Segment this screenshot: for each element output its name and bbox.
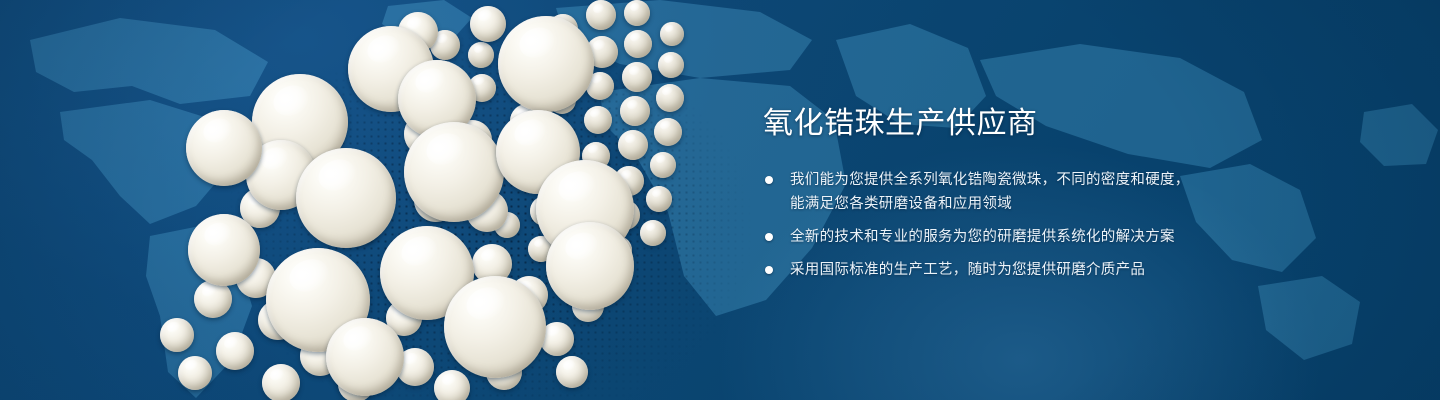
feature-bullet-list: 我们能为您提供全系列氧化锆陶瓷微珠，不同的密度和硬度， 能满足您各类研磨设备和应… xyxy=(763,168,1403,282)
banner-text-block: 氧化锆珠生产供应商 我们能为您提供全系列氧化锆陶瓷微珠，不同的密度和硬度， 能满… xyxy=(763,104,1403,282)
page-title: 氧化锆珠生产供应商 xyxy=(763,104,1403,144)
bullet-dot-icon xyxy=(765,266,773,274)
bullet-text-line-2: 能满足您各类研磨设备和应用领域 xyxy=(790,192,1403,216)
bullet-dot-icon xyxy=(765,176,773,184)
bullet-text-line-1: 采用国际标准的生产工艺，随时为您提供研磨介质产品 xyxy=(790,262,1145,278)
bullet-text-line-1: 全新的技术和专业的服务为您的研磨提供系统化的解决方案 xyxy=(790,229,1175,245)
list-item: 采用国际标准的生产工艺，随时为您提供研磨介质产品 xyxy=(763,258,1403,282)
list-item: 全新的技术和专业的服务为您的研磨提供系统化的解决方案 xyxy=(763,225,1403,249)
bullet-dot-icon xyxy=(765,233,773,241)
bullet-text-line-1: 我们能为您提供全系列氧化锆陶瓷微珠，不同的密度和硬度， xyxy=(790,172,1190,188)
list-item: 我们能为您提供全系列氧化锆陶瓷微珠，不同的密度和硬度， 能满足您各类研磨设备和应… xyxy=(763,168,1403,216)
hero-banner: 氧化锆珠生产供应商 我们能为您提供全系列氧化锆陶瓷微珠，不同的密度和硬度， 能满… xyxy=(0,0,1440,400)
